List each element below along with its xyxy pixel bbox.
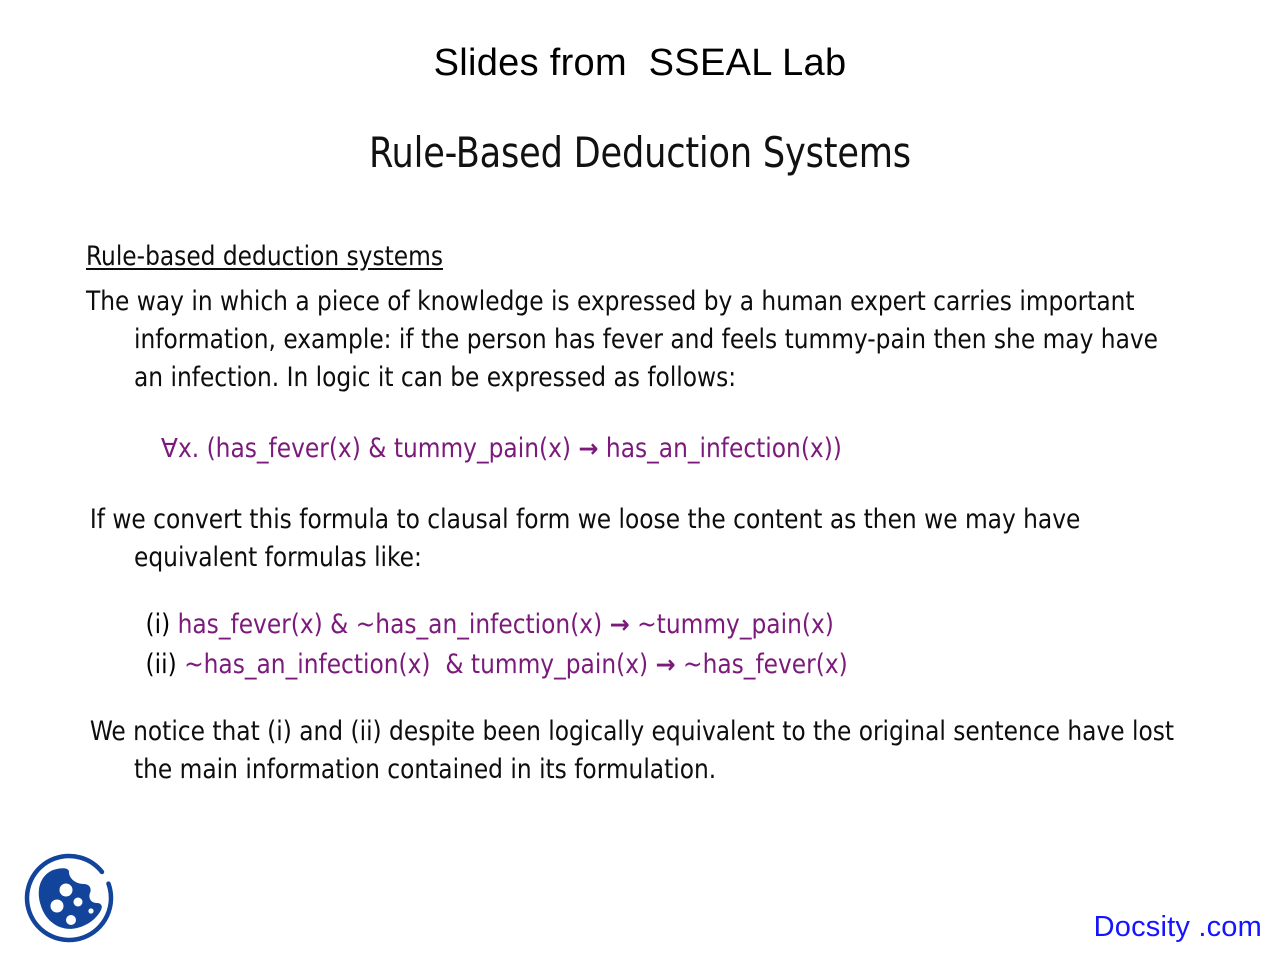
presentation-slide: Slides from SSEAL Lab Rule-Based Deducti… <box>0 0 1280 960</box>
spacer <box>86 685 1236 713</box>
docsity-logo-icon <box>19 848 119 948</box>
implies-arrow-icon: → <box>610 610 630 639</box>
formula-consequent: ~tummy_pain(x) <box>630 609 834 640</box>
formula-main: ∀x. (has_fever(x) & tummy_pain(x) → has_… <box>86 429 1190 469</box>
formula-consequent: ~has_fever(x) <box>676 649 848 680</box>
spacer <box>86 469 1236 501</box>
formula-main-body: x. (has_fever(x) & tummy_pain(x) <box>178 433 578 464</box>
slide-body: Rule-based deduction systems The way in … <box>86 238 1236 789</box>
formula-main-consequent: has_an_infection(x)) <box>599 433 842 464</box>
slide-source-header: Slides from SSEAL Lab <box>0 42 1280 85</box>
formula-marker: (ii) <box>146 649 177 680</box>
implies-arrow-icon: → <box>578 434 598 463</box>
implies-arrow-icon: → <box>656 650 676 679</box>
body-paragraph-2: If we convert this formula to clausal fo… <box>86 501 1190 577</box>
body-paragraph-3: We notice that (i) and (ii) despite been… <box>86 713 1190 789</box>
formula-item-ii: (ii) ~has_an_infection(x) & tummy_pain(x… <box>86 645 1190 685</box>
spacer <box>86 577 1236 605</box>
section-subheading: Rule-based deduction systems <box>86 238 1190 276</box>
formula-antecedent: has_fever(x) & ~has_an_infection(x) <box>170 609 609 640</box>
body-paragraph-1: The way in which a piece of knowledge is… <box>86 283 1190 397</box>
formula-marker: (i) <box>146 609 171 640</box>
docsity-watermark: Docsity .com <box>1094 911 1262 944</box>
slide-title: Rule-Based Deduction Systems <box>45 128 1235 177</box>
formula-antecedent: ~has_an_infection(x) & tummy_pain(x) <box>177 649 656 680</box>
forall-icon: ∀ <box>161 434 178 464</box>
spacer <box>86 397 1236 429</box>
formula-item-i: (i) has_fever(x) & ~has_an_infection(x) … <box>86 605 1190 645</box>
